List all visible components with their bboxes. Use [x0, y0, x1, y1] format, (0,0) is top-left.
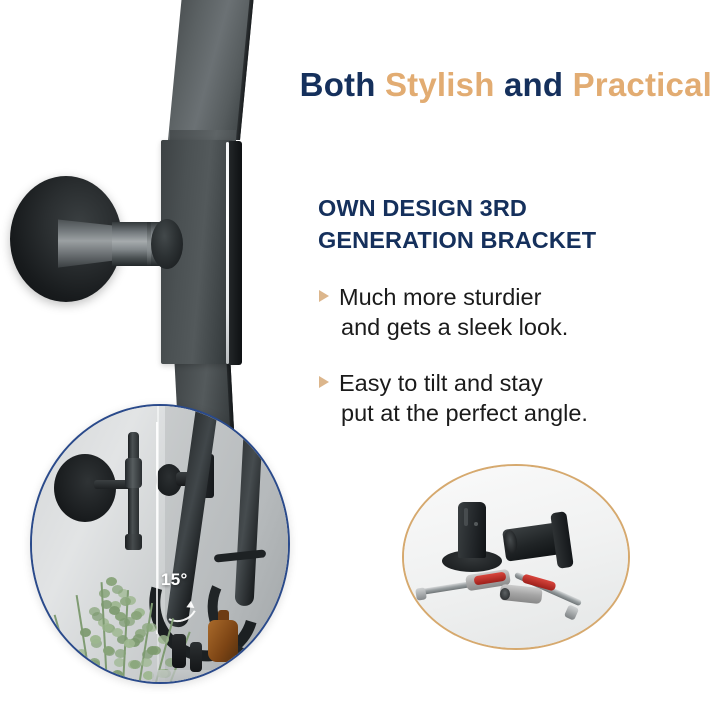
headline-part-3: and	[504, 66, 573, 103]
shower-rod-foot	[125, 534, 142, 550]
plant-leaf	[112, 585, 123, 594]
hardware-circle	[402, 464, 630, 650]
plant-leaf	[131, 611, 142, 620]
shelf-ledge	[152, 670, 290, 684]
pivot-arm-end-cap	[151, 219, 183, 269]
list-item-text: Easy to tilt and stay put at the perfect…	[339, 368, 588, 428]
list-item-line-1: Easy to tilt and stay	[339, 368, 588, 398]
bracket-standing-body	[458, 502, 486, 558]
subheading-line-1: OWN DESIGN 3RD	[318, 192, 688, 224]
plant-leaf	[141, 658, 152, 667]
list-item-line-2: and gets a sleek look.	[339, 312, 568, 342]
list-item-text: Much more sturdier and gets a sleek look…	[339, 282, 568, 342]
product-photo	[0, 0, 300, 430]
feature-list: Much more sturdier and gets a sleek look…	[318, 282, 698, 454]
triangle-right-icon	[318, 287, 334, 311]
list-item: Easy to tilt and stay put at the perfect…	[318, 368, 698, 428]
bracket-standing-hole	[474, 522, 478, 526]
plant-leaf	[130, 660, 141, 669]
plant-leaf	[112, 628, 123, 637]
subheading-line-2: GENERATION BRACKET	[318, 224, 688, 256]
dark-bottle-2	[190, 642, 202, 672]
headline: Both Stylish and Practical	[220, 66, 712, 104]
headline-part-4: Practical	[573, 66, 712, 103]
bracket-plate-highlight	[226, 142, 229, 364]
bracket-standing-slot	[464, 508, 468, 526]
amber-bottle	[208, 620, 238, 662]
shower-rod	[128, 432, 139, 550]
list-item: Much more sturdier and gets a sleek look…	[318, 282, 698, 342]
shower-rod-knob	[125, 458, 142, 488]
plant-leaf	[72, 670, 83, 679]
headline-part-2: Stylish	[385, 66, 504, 103]
dark-bottle-1	[172, 634, 186, 668]
plant-decoration	[60, 574, 190, 684]
infographic-canvas: Both Stylish and Practical OWN DESIGN 3R…	[0, 0, 720, 720]
plant-leaf	[147, 646, 158, 655]
plant-leaf	[120, 597, 131, 606]
screw-a-head	[415, 587, 427, 600]
wall-anchor-b-bore	[500, 588, 510, 600]
triangle-right-icon	[318, 373, 334, 397]
headline-part-1: Both	[300, 66, 385, 103]
plant-leaf	[133, 634, 144, 643]
plant-leaf	[92, 612, 103, 621]
list-item-line-2: put at the perfect angle.	[339, 398, 588, 428]
tilt-demo-circle: 15°	[30, 404, 290, 684]
plant-leaf	[158, 635, 169, 644]
bracket-plate-side-face	[229, 141, 242, 365]
subheading: OWN DESIGN 3RD GENERATION BRACKET	[318, 192, 688, 256]
list-item-line-1: Much more sturdier	[339, 282, 568, 312]
plant-leaf	[89, 658, 100, 667]
